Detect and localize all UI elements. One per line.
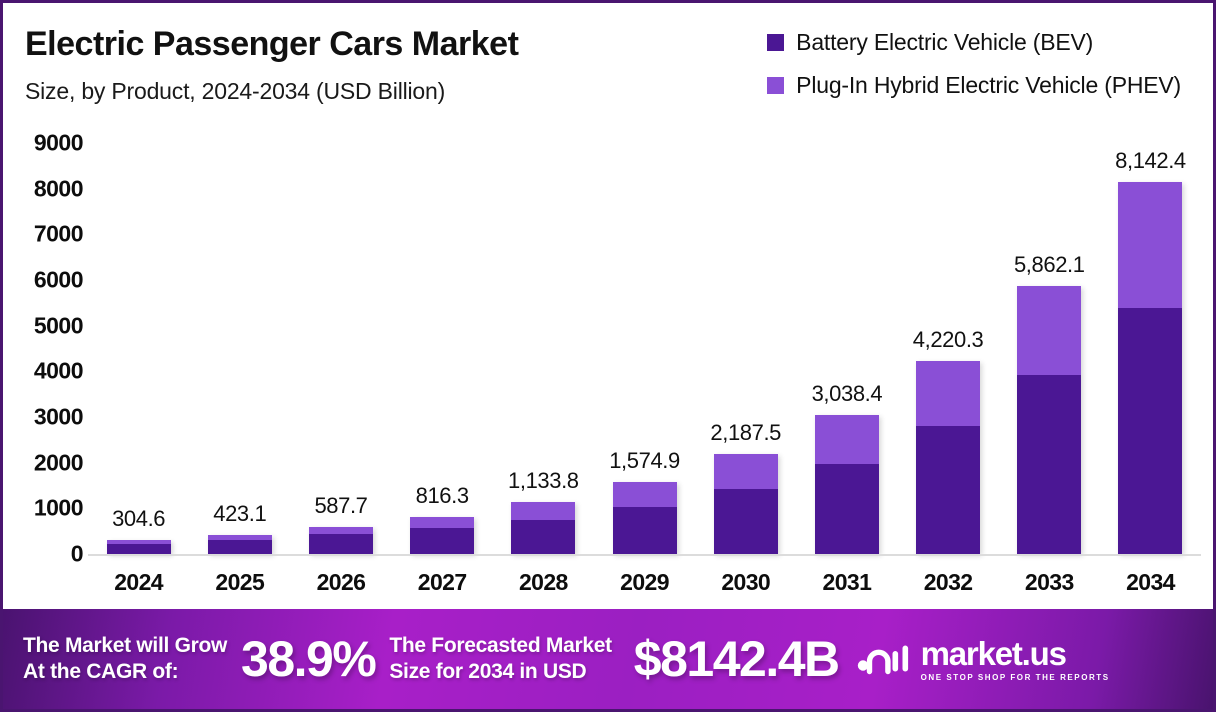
legend-item-phev[interactable]: Plug-In Hybrid Electric Vehicle (PHEV) [767, 72, 1181, 99]
bar-value-label: 304.6 [112, 506, 165, 532]
forecast-caption: The Forecasted Market Size for 2034 in U… [389, 633, 611, 684]
y-axis-tick: 8000 [3, 175, 83, 202]
bar-series-container: 304.6423.1587.7816.31,133.81,574.92,187.… [88, 143, 1201, 554]
bar-group[interactable]: 3,038.4 [796, 143, 897, 554]
bar-stack[interactable] [511, 502, 575, 554]
y-axis-tick: 2000 [3, 449, 83, 476]
bar-stack[interactable] [916, 361, 980, 554]
bar-stack[interactable] [107, 540, 171, 554]
bar-value-label: 1,574.9 [609, 448, 680, 474]
bar-value-label: 587.7 [314, 493, 367, 519]
bar-stack[interactable] [815, 415, 879, 554]
bar-group[interactable]: 8,142.4 [1100, 143, 1201, 554]
bar-segment-bev[interactable] [511, 520, 575, 554]
x-axis-tick: 2033 [999, 569, 1100, 596]
x-axis-tick: 2030 [695, 569, 796, 596]
bar-group[interactable]: 2,187.5 [695, 143, 796, 554]
bar-group[interactable]: 5,862.1 [999, 143, 1100, 554]
y-axis-tick: 1000 [3, 495, 83, 522]
bar-segment-phev[interactable] [714, 454, 778, 489]
bar-segment-phev[interactable] [309, 527, 373, 534]
bar-value-label: 3,038.4 [812, 381, 883, 407]
x-axis-baseline [88, 554, 1201, 556]
y-axis-tick: 7000 [3, 221, 83, 248]
page-subtitle: Size, by Product, 2024-2034 (USD Billion… [25, 78, 518, 105]
bar-group[interactable]: 1,133.8 [493, 143, 594, 554]
bar-segment-bev[interactable] [107, 544, 171, 554]
title-block: Electric Passenger Cars Market Size, by … [25, 25, 518, 105]
bar-stack[interactable] [208, 535, 272, 554]
infographic-root: Electric Passenger Cars Market Size, by … [0, 0, 1216, 712]
bar-stack[interactable] [1118, 182, 1182, 554]
bar-group[interactable]: 816.3 [392, 143, 493, 554]
legend-item-bev[interactable]: Battery Electric Vehicle (BEV) [767, 29, 1093, 56]
bar-segment-phev[interactable] [1017, 286, 1081, 374]
bar-segment-phev[interactable] [815, 415, 879, 463]
y-axis-tick: 3000 [3, 404, 83, 431]
bar-stack[interactable] [309, 527, 373, 554]
bar-stack[interactable] [1017, 286, 1081, 554]
bar-value-label: 2,187.5 [710, 420, 781, 446]
plot-area: 9000800070006000500040003000200010000 30… [3, 143, 1213, 606]
bar-segment-bev[interactable] [309, 534, 373, 554]
x-axis-tick: 2029 [594, 569, 695, 596]
bar-value-label: 423.1 [213, 501, 266, 527]
bar-segment-bev[interactable] [613, 507, 677, 554]
cagr-caption: The Market will Grow At the CAGR of: [23, 633, 227, 684]
legend-label-phev: Plug-In Hybrid Electric Vehicle (PHEV) [796, 72, 1181, 99]
bar-segment-bev[interactable] [410, 528, 474, 554]
bar-segment-bev[interactable] [1017, 375, 1081, 554]
bar-segment-bev[interactable] [714, 489, 778, 554]
bar-group[interactable]: 423.1 [189, 143, 290, 554]
bar-value-label: 816.3 [416, 483, 469, 509]
x-axis-tick: 2025 [189, 569, 290, 596]
brand-name: market.us [921, 637, 1066, 670]
y-axis: 9000800070006000500040003000200010000 [3, 143, 83, 556]
forecast-caption-line1: The Forecasted Market [389, 633, 611, 659]
bar-group[interactable]: 1,574.9 [594, 143, 695, 554]
forecast-value: $8142.4B [634, 630, 839, 688]
x-axis-tick: 2034 [1100, 569, 1201, 596]
bar-segment-phev[interactable] [511, 502, 575, 520]
x-axis-tick: 2026 [290, 569, 391, 596]
legend-swatch-bev-icon [767, 34, 784, 51]
cagr-caption-line1: The Market will Grow [23, 633, 227, 659]
bar-segment-phev[interactable] [410, 517, 474, 528]
chart-header: Electric Passenger Cars Market Size, by … [3, 3, 1213, 143]
bar-group[interactable]: 304.6 [88, 143, 189, 554]
x-axis-tick: 2028 [493, 569, 594, 596]
y-axis-tick: 0 [3, 541, 83, 568]
bar-group[interactable]: 587.7 [290, 143, 391, 554]
bar-segment-bev[interactable] [1118, 308, 1182, 554]
forecast-caption-line2: Size for 2034 in USD [389, 659, 611, 685]
cagr-caption-line2: At the CAGR of: [23, 659, 227, 685]
bar-value-label: 5,862.1 [1014, 252, 1085, 278]
legend-swatch-phev-icon [767, 77, 784, 94]
bar-stack[interactable] [613, 482, 677, 554]
cagr-value: 38.9% [241, 630, 375, 688]
legend-label-bev: Battery Electric Vehicle (BEV) [796, 29, 1093, 56]
bar-value-label: 8,142.4 [1115, 148, 1186, 174]
bar-segment-phev[interactable] [916, 361, 980, 425]
bottom-banner: The Market will Grow At the CAGR of: 38.… [3, 609, 1213, 709]
bar-segment-phev[interactable] [1118, 182, 1182, 308]
bar-value-label: 1,133.8 [508, 468, 579, 494]
x-axis: 2024202520262027202820292030203120322033… [88, 561, 1201, 603]
y-axis-tick: 4000 [3, 358, 83, 385]
brand-tagline: ONE STOP SHOP FOR THE REPORTS [921, 673, 1110, 682]
bar-segment-bev[interactable] [208, 540, 272, 554]
bar-segment-bev[interactable] [916, 426, 980, 555]
y-axis-tick: 6000 [3, 267, 83, 294]
y-axis-tick: 9000 [3, 130, 83, 157]
x-axis-tick: 2027 [392, 569, 493, 596]
page-title: Electric Passenger Cars Market [25, 25, 518, 64]
brand-text: market.us ONE STOP SHOP FOR THE REPORTS [921, 637, 1110, 682]
x-axis-tick: 2032 [898, 569, 999, 596]
plot-canvas: 304.6423.1587.7816.31,133.81,574.92,187.… [88, 143, 1201, 556]
chart-legend: Battery Electric Vehicle (BEV) Plug-In H… [767, 29, 1181, 99]
brand-logo[interactable]: market.us ONE STOP SHOP FOR THE REPORTS [855, 637, 1110, 682]
y-axis-tick: 5000 [3, 312, 83, 339]
bar-segment-bev[interactable] [815, 464, 879, 554]
x-axis-tick: 2031 [796, 569, 897, 596]
bar-segment-phev[interactable] [613, 482, 677, 506]
bar-stack[interactable] [714, 454, 778, 554]
bar-value-label: 4,220.3 [913, 327, 984, 353]
x-axis-tick: 2024 [88, 569, 189, 596]
bar-stack[interactable] [410, 517, 474, 554]
bar-group[interactable]: 4,220.3 [898, 143, 999, 554]
market-us-logo-icon [855, 642, 911, 676]
